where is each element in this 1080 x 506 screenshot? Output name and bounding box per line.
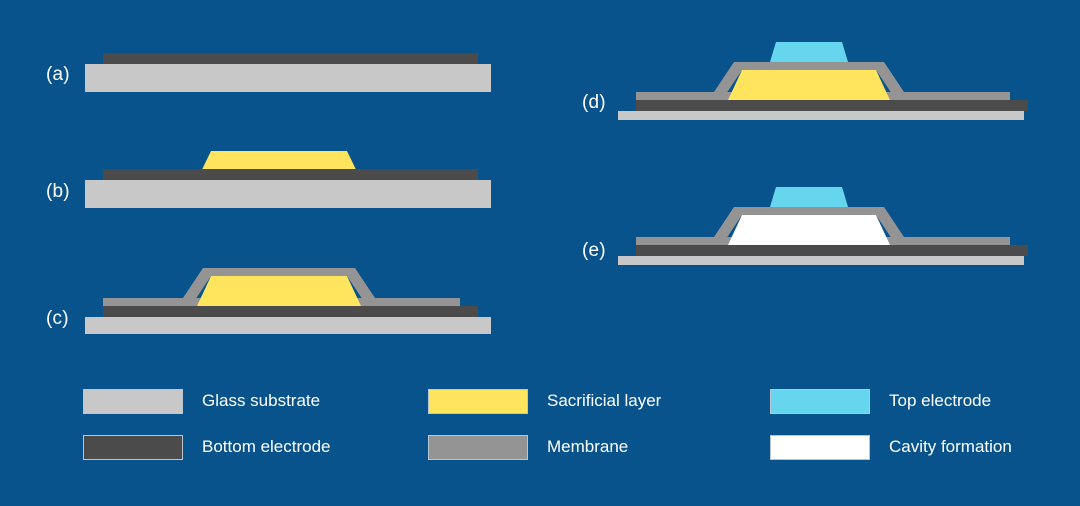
top-electrode-shape — [770, 42, 848, 62]
legend-item-sacrificial-layer: Sacrificial layer — [428, 378, 661, 424]
legend-item-bottom-electrode: Bottom electrode — [83, 424, 331, 470]
legend-item-glass-substrate: Glass substrate — [83, 378, 331, 424]
legend-item-membrane: Membrane — [428, 424, 661, 470]
panel-d-cross-section — [618, 40, 1038, 120]
process-panel-d — [618, 40, 1038, 120]
legend-label-bottom-electrode: Bottom electrode — [202, 437, 331, 457]
legend-column-3: Top electrode Cavity formation — [770, 378, 1012, 470]
legend-swatch-bottom-electrode — [83, 435, 183, 460]
legend: Glass substrate Bottom electrode Sacrifi… — [0, 378, 1080, 478]
legend-swatch-glass-substrate — [83, 389, 183, 414]
glass-substrate-layer — [85, 180, 491, 208]
legend-swatch-membrane — [428, 435, 528, 460]
bottom-electrode-layer — [103, 53, 478, 64]
bottom-electrode-layer — [636, 100, 1028, 111]
legend-label-glass-substrate: Glass substrate — [202, 391, 320, 411]
bottom-electrode-layer — [636, 245, 1028, 256]
legend-item-cavity-formation: Cavity formation — [770, 424, 1012, 470]
panel-b-cross-section — [85, 148, 495, 208]
panel-label-d: (d) — [582, 92, 606, 114]
legend-column-2: Sacrificial layer Membrane — [428, 378, 661, 470]
glass-substrate-layer — [85, 317, 491, 334]
glass-substrate-layer — [85, 64, 491, 92]
process-panel-c — [85, 266, 495, 334]
panel-e-cross-section — [618, 185, 1038, 265]
legend-swatch-top-electrode — [770, 389, 870, 414]
legend-swatch-sacrificial-layer — [428, 389, 528, 414]
legend-item-top-electrode: Top electrode — [770, 378, 1012, 424]
panel-label-e: (e) — [582, 240, 606, 262]
top-electrode-shape — [770, 187, 848, 207]
legend-label-cavity-formation: Cavity formation — [889, 437, 1012, 457]
process-panel-b — [85, 148, 495, 208]
legend-label-top-electrode: Top electrode — [889, 391, 991, 411]
bottom-electrode-layer — [103, 169, 478, 180]
legend-label-sacrificial-layer: Sacrificial layer — [547, 391, 661, 411]
bottom-electrode-layer — [103, 306, 478, 317]
panel-c-cross-section — [85, 266, 495, 334]
panel-a-cross-section — [85, 48, 495, 93]
process-panel-e — [618, 185, 1038, 265]
panel-label-b: (b) — [46, 181, 70, 203]
process-panel-a — [85, 48, 495, 93]
legend-column-1: Glass substrate Bottom electrode — [83, 378, 331, 470]
figure-root: (a) (b) (c) — [0, 0, 1080, 506]
legend-label-membrane: Membrane — [547, 437, 628, 457]
legend-swatch-cavity-formation — [770, 435, 870, 460]
panel-label-a: (a) — [46, 64, 70, 86]
sacrificial-layer-shape — [197, 276, 361, 306]
sacrificial-layer-shape — [728, 70, 890, 100]
cavity-shape — [728, 215, 890, 245]
panel-label-c: (c) — [46, 308, 69, 330]
glass-substrate-layer — [618, 111, 1024, 120]
glass-substrate-layer — [618, 256, 1024, 265]
